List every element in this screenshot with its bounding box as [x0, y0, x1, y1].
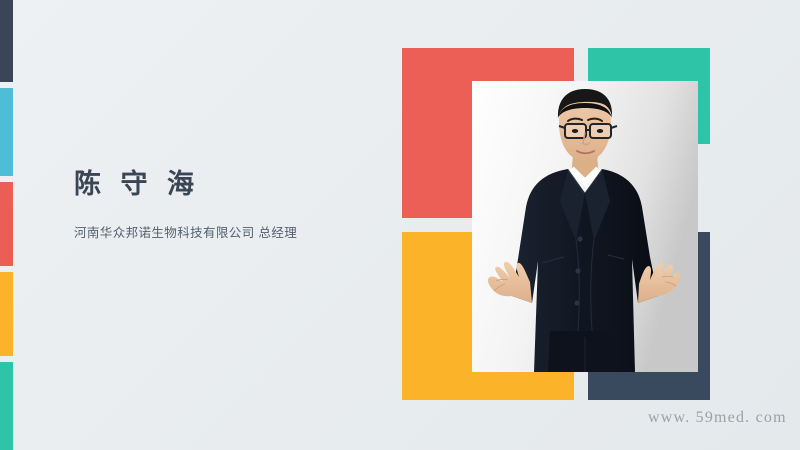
- accent-bar-blue: [0, 88, 13, 176]
- watermark-text: www. 59med. com: [648, 409, 787, 427]
- portrait-photo: [472, 81, 698, 372]
- accent-bar-red: [0, 182, 13, 266]
- accent-bar-yellow: [0, 272, 13, 356]
- accent-bar-green: [0, 362, 13, 450]
- accent-bar-navy: [0, 0, 13, 82]
- speaker-info: 陈 守 海 河南华众邦诺生物科技有限公司 总经理: [74, 168, 374, 241]
- speaker-name: 陈 守 海: [74, 168, 374, 200]
- slide-canvas: 陈 守 海 河南华众邦诺生物科技有限公司 总经理: [0, 0, 800, 450]
- speaker-role: 河南华众邦诺生物科技有限公司 总经理: [74, 222, 374, 241]
